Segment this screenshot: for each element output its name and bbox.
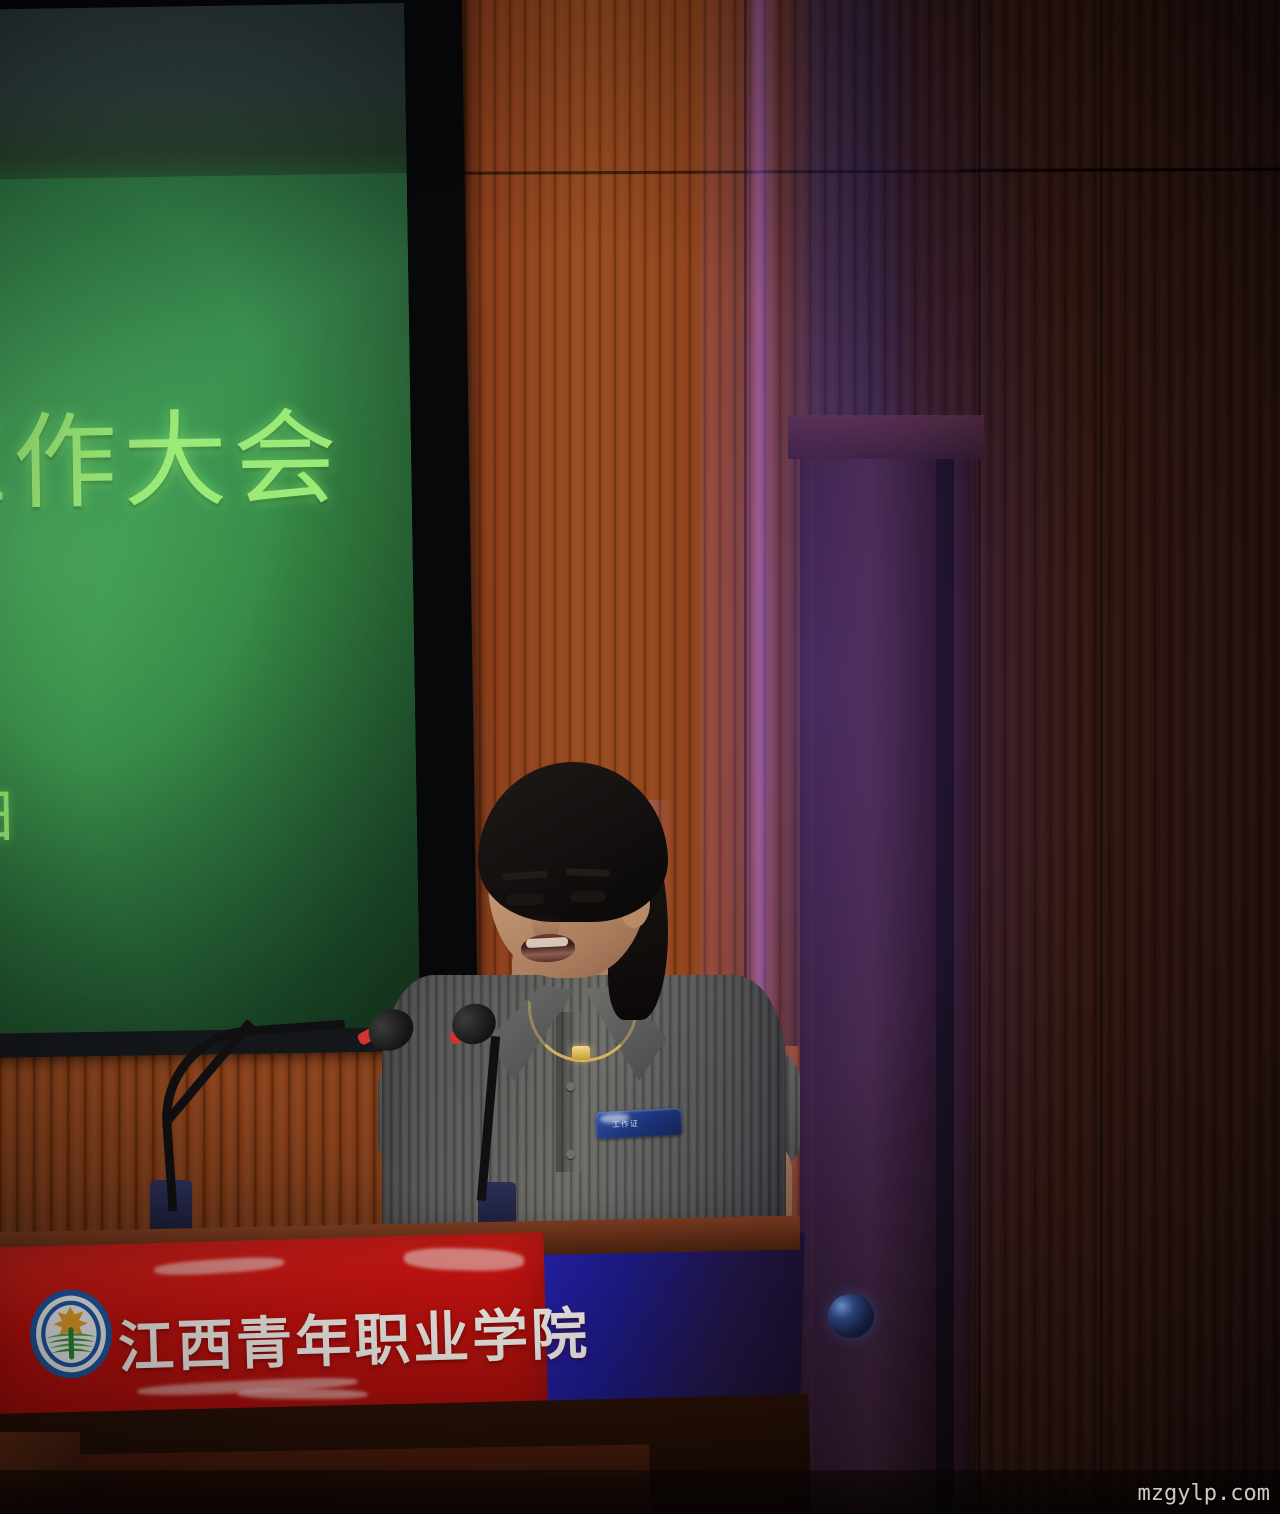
door-reveal-gap: [936, 459, 954, 1514]
projected-slide: [0, 173, 420, 1044]
name-badge: 工作证: [595, 1108, 682, 1139]
projection-screen: [0, 0, 478, 1058]
shirt-button: [566, 1150, 575, 1159]
podium-banner-title: 江西青年职业学院: [117, 1289, 591, 1384]
site-watermark: mzgylp.com: [1138, 1481, 1270, 1506]
screen-unlit-area: [0, 3, 407, 190]
banner-scuff: [404, 1247, 525, 1272]
badge-label: 工作证: [612, 1118, 640, 1130]
wall-groove: [978, 0, 981, 1514]
banner-scuff: [154, 1255, 285, 1277]
necklace-pendant: [572, 1046, 590, 1060]
stage-side-door[interactable]: [800, 415, 972, 1514]
wall-groove: [1100, 0, 1103, 1514]
eyebrow-right: [566, 868, 610, 877]
shirt-button: [566, 1082, 575, 1091]
photo-scene: 工作大会 1日 工作证: [0, 0, 1280, 1514]
projection-screen-surface: [0, 3, 420, 1044]
college-seal-logo: [27, 1287, 116, 1381]
door-leaf: [814, 459, 936, 1514]
door-knob-icon[interactable]: [828, 1294, 874, 1338]
eye-right: [570, 891, 606, 902]
banner-scuff: [238, 1389, 368, 1400]
door-lintel: [788, 415, 984, 459]
foreground-shadow: [0, 1470, 1280, 1514]
